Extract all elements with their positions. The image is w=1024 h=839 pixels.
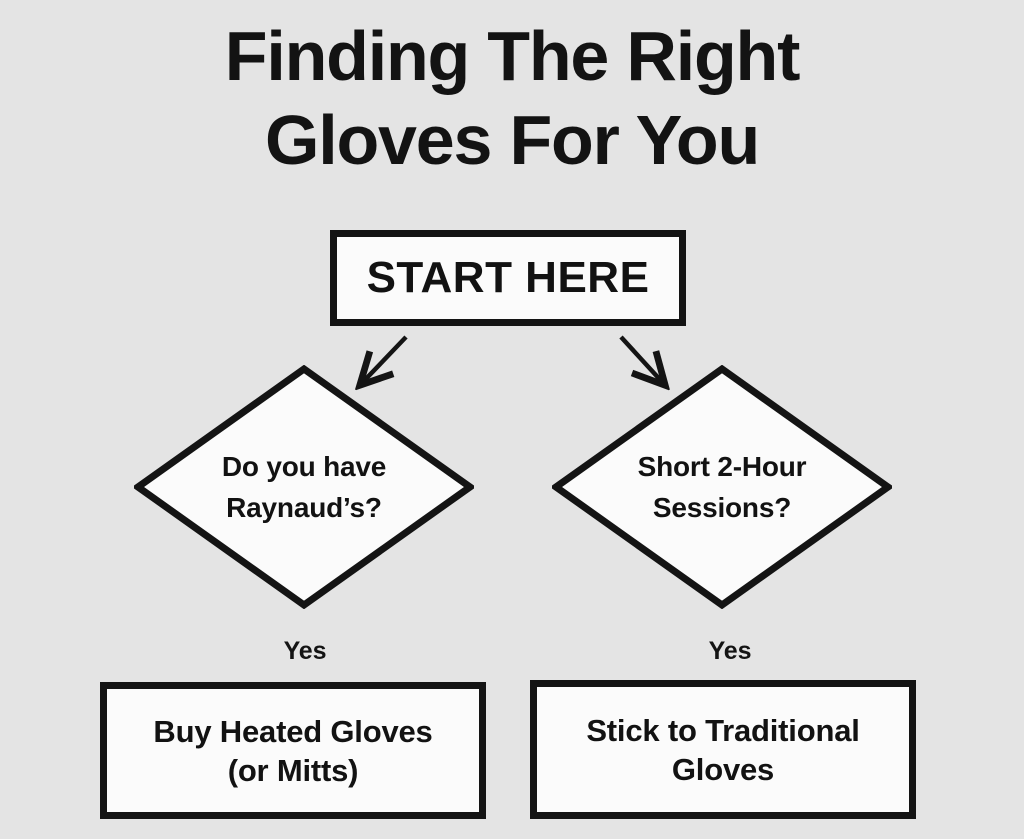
flowchart-node-decision-left[interactable]: Do you have Raynaud’s? — [134, 365, 474, 609]
flowchart-node-outcome-left[interactable]: Buy Heated Gloves (or Mitts) — [100, 682, 486, 819]
flowchart-node-decision-left-label: Do you have Raynaud’s? — [134, 365, 474, 609]
edge-label-yes-left: Yes — [245, 637, 365, 666]
flowchart-node-start[interactable]: START HERE — [330, 230, 686, 326]
flowchart-node-outcome-left-label: Buy Heated Gloves (or Mitts) — [153, 712, 432, 790]
flowchart-node-outcome-right[interactable]: Stick to Traditional Gloves — [530, 680, 916, 819]
flowchart-node-decision-right[interactable]: Short 2-Hour Sessions? — [552, 365, 892, 609]
flowchart-canvas: Finding The Right Gloves For You START H… — [0, 0, 1024, 839]
page-title: Finding The Right Gloves For You — [0, 14, 1024, 182]
flowchart-node-outcome-right-label: Stick to Traditional Gloves — [586, 711, 859, 789]
flowchart-node-start-label: START HERE — [367, 255, 650, 301]
flowchart-node-decision-right-label: Short 2-Hour Sessions? — [552, 365, 892, 609]
edge-label-yes-right: Yes — [670, 637, 790, 666]
